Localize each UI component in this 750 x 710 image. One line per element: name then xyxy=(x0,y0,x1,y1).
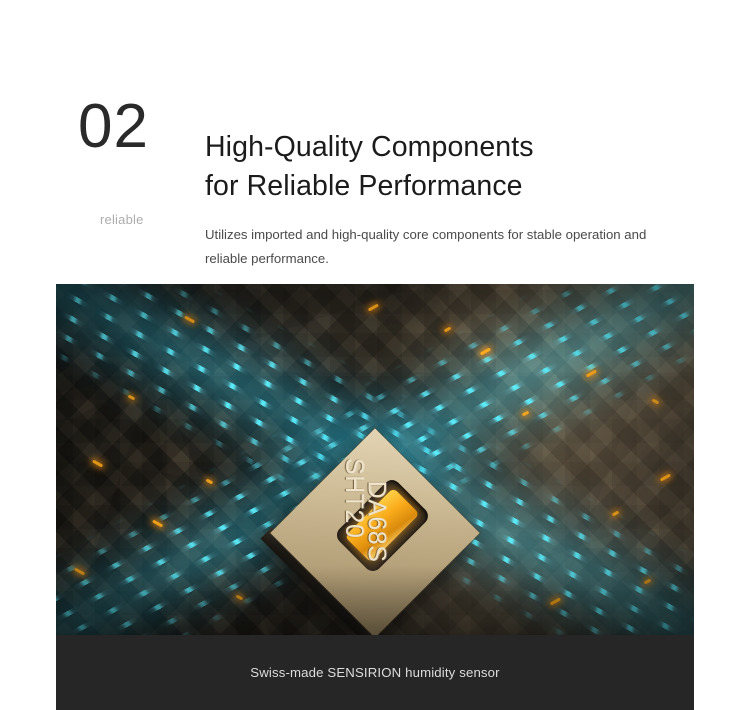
headline-line-1: High-Quality Components xyxy=(205,128,675,167)
figure-caption: Swiss-made SENSIRION humidity sensor xyxy=(250,665,499,680)
chip-marking-line-2: DA68S xyxy=(362,481,391,563)
body-description: Utilizes imported and high-quality core … xyxy=(205,223,685,271)
page-title: High-Quality Components for Reliable Per… xyxy=(205,128,675,206)
section-header: 02 High-Quality Components for Reliable … xyxy=(0,0,750,284)
headline-line-2: for Reliable Performance xyxy=(205,167,675,206)
caption-bar: Swiss-made SENSIRION humidity sensor xyxy=(56,635,694,710)
step-number: 02 xyxy=(78,96,149,158)
product-figure: SHT20 DA68S Swiss-made SENSIRION humidit… xyxy=(56,284,694,710)
kicker-label: reliable xyxy=(100,211,144,229)
sensor-photo: SHT20 DA68S xyxy=(56,284,694,635)
